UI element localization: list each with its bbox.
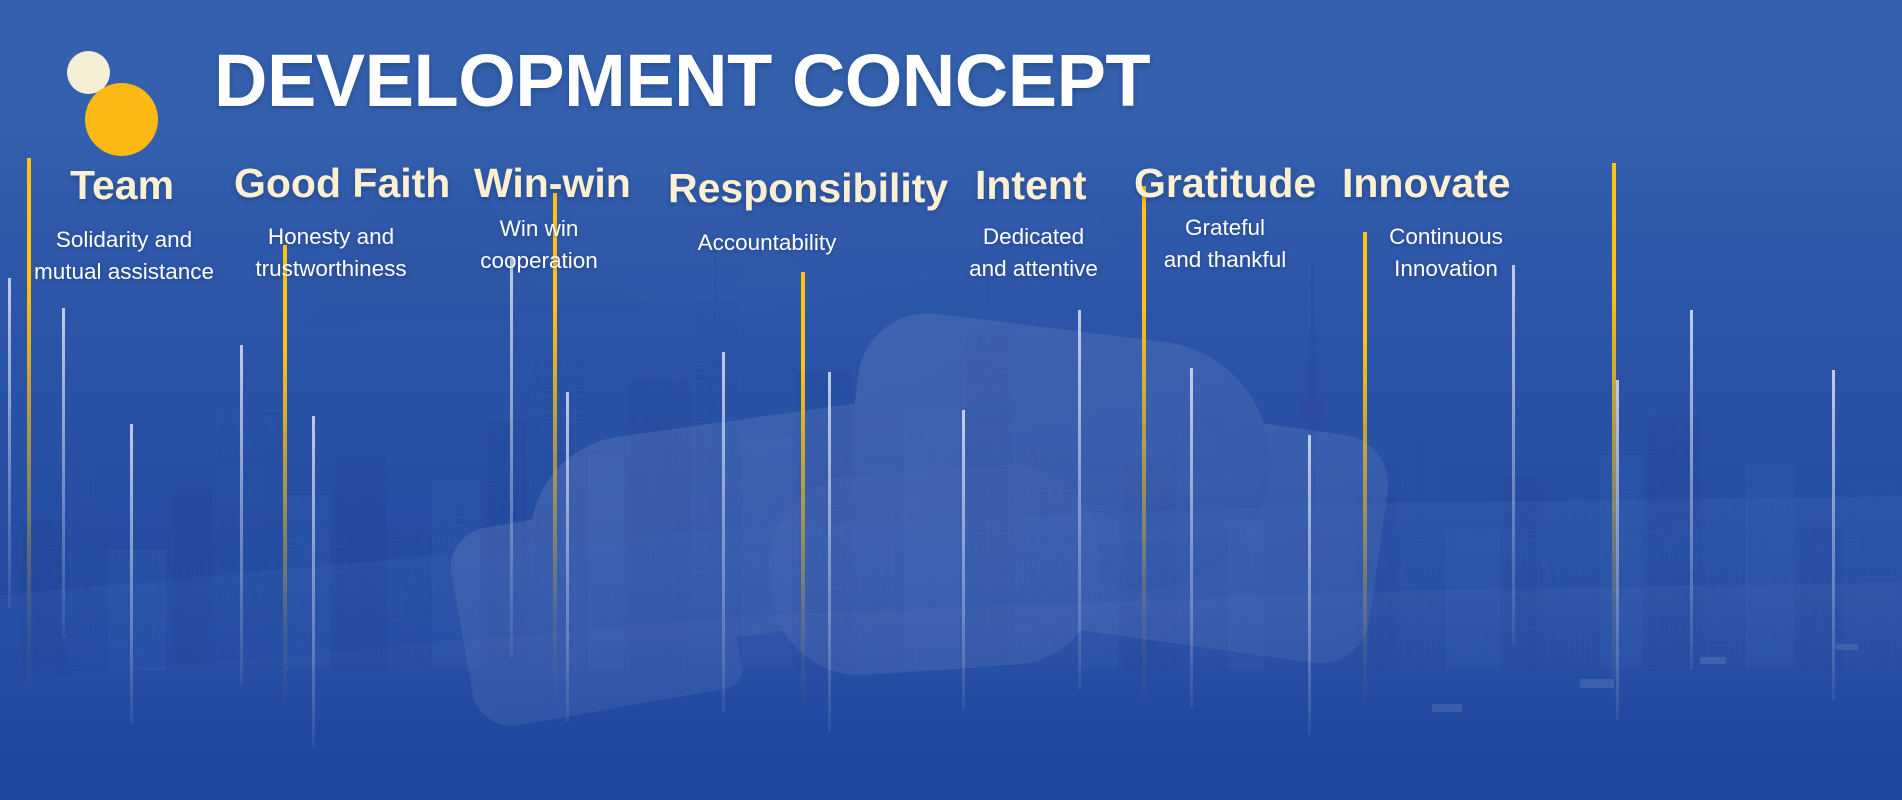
concept-subtitle: Grateful and thankful xyxy=(1156,212,1294,276)
concept-columns: Team Solidarity and mutual assistance Go… xyxy=(0,0,1902,800)
accent-bar xyxy=(283,245,287,715)
banner-content: DEVELOPMENT CONCEPT Team Solidarity and … xyxy=(0,0,1902,800)
concept-subtitle: Honesty and trustworthiness xyxy=(238,221,424,285)
concept-subtitle: Accountability xyxy=(690,227,844,259)
subtitle-line: and thankful xyxy=(1156,244,1294,276)
concept-subtitle: Dedicated and attentive xyxy=(962,221,1105,285)
subtitle-line: Solidarity and xyxy=(30,224,218,256)
concept-subtitle: Continuous Innovation xyxy=(1370,221,1522,285)
concept-subtitle: Win win cooperation xyxy=(468,213,610,277)
concept-heading: Team xyxy=(70,165,174,206)
subtitle-line: Dedicated xyxy=(962,221,1105,253)
subtitle-line: Continuous xyxy=(1370,221,1522,253)
concept-heading: Gratitude xyxy=(1134,163,1316,204)
accent-bar xyxy=(801,272,805,712)
banner-slide: DEVELOPMENT CONCEPT Team Solidarity and … xyxy=(0,0,1902,800)
subtitle-line: trustworthiness xyxy=(238,253,424,285)
subtitle-line: Honesty and xyxy=(238,221,424,253)
subtitle-line: and attentive xyxy=(962,253,1105,285)
concept-heading: Innovate xyxy=(1342,163,1511,204)
concept-heading: Good Faith xyxy=(234,163,450,204)
subtitle-line: Innovation xyxy=(1370,253,1522,285)
subtitle-line: mutual assistance xyxy=(30,256,218,288)
accent-bar xyxy=(1142,186,1146,706)
concept-heading: Win-win xyxy=(474,163,631,204)
accent-bar xyxy=(1612,163,1616,708)
concept-heading: Responsibility xyxy=(668,168,948,209)
concept-subtitle: Solidarity and mutual assistance xyxy=(30,224,218,288)
concept-heading: Intent xyxy=(975,165,1087,206)
subtitle-line: cooperation xyxy=(468,245,610,277)
subtitle-line: Win win xyxy=(468,213,610,245)
accent-bar xyxy=(1363,232,1367,717)
subtitle-line: Grateful xyxy=(1156,212,1294,244)
subtitle-line: Accountability xyxy=(690,227,844,259)
